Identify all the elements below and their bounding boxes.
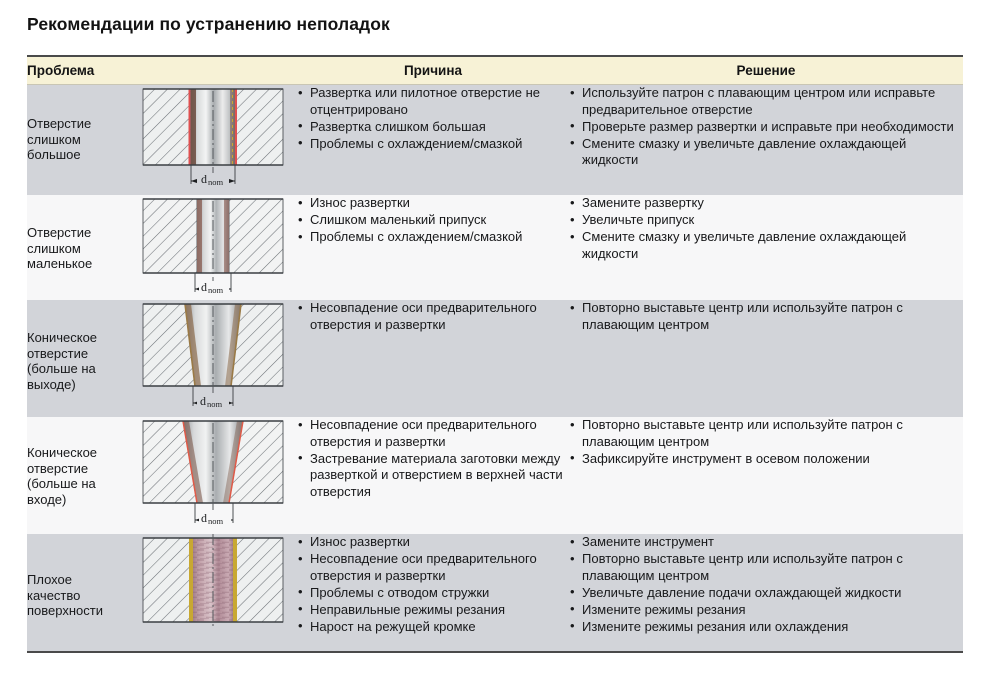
dimension-subscript: nom bbox=[207, 399, 223, 409]
table-row: Коническое отверстие (больше на входе) bbox=[27, 417, 963, 534]
hole-diagram-svg bbox=[133, 534, 293, 646]
problem-line: слишком bbox=[27, 241, 129, 257]
list-item: Проблемы с охлаждением/смазкой bbox=[297, 229, 569, 246]
list-item: Износ развертки bbox=[297, 534, 569, 551]
problem-line: поверхности bbox=[27, 603, 129, 619]
solution-cell: Повторно выставьте центр или используйте… bbox=[569, 300, 963, 417]
cause-cell: Износ развертки Несовпадение оси предвар… bbox=[297, 534, 569, 651]
table-row: Коническое отверстие (больше на выходе) bbox=[27, 300, 963, 417]
problem-line: (больше на bbox=[27, 361, 129, 377]
problem-line: слишком bbox=[27, 132, 129, 148]
cause-cell: Износ развертки Слишком маленький припус… bbox=[297, 195, 569, 300]
list-item: Повторно выставьте центр или используйте… bbox=[569, 300, 963, 333]
cause-list: Развертка или пилотное отверстие не отце… bbox=[297, 85, 569, 152]
solution-cell: Повторно выставьте центр или используйте… bbox=[569, 417, 963, 534]
dimension-label: d bbox=[200, 394, 206, 408]
list-item: Развертка или пилотное отверстие не отце… bbox=[297, 85, 569, 118]
list-item: Застревание материала заготовки между ра… bbox=[297, 451, 569, 501]
solution-list: Используйте патрон с плавающим центром и… bbox=[569, 85, 963, 169]
problem-line: Отверстие bbox=[27, 225, 129, 241]
column-header-solution: Решение bbox=[569, 57, 963, 85]
solution-list: Замените развертку Увеличьте припуск Сме… bbox=[569, 195, 963, 262]
cause-cell: Несовпадение оси предварительного отверс… bbox=[297, 417, 569, 534]
solution-cell: Замените развертку Увеличьте припуск Сме… bbox=[569, 195, 963, 300]
table-row: Плохое качество поверхности bbox=[27, 534, 963, 651]
list-item: Повторно выставьте центр или используйте… bbox=[569, 551, 963, 584]
list-item: Износ развертки bbox=[297, 195, 569, 212]
list-item: Замените инструмент bbox=[569, 534, 963, 551]
problem-line: Коническое bbox=[27, 330, 129, 346]
list-item: Развертка слишком большая bbox=[297, 119, 569, 136]
list-item: Измените режимы резания bbox=[569, 602, 963, 619]
figure-hole-too-small: d nom bbox=[133, 195, 293, 295]
problem-line: маленькое bbox=[27, 256, 129, 272]
figure-poor-surface-finish bbox=[133, 534, 293, 646]
figure-cell: d nom bbox=[129, 195, 297, 300]
dimension-subscript: nom bbox=[208, 285, 224, 295]
problem-line: Отверстие bbox=[27, 116, 129, 132]
page-title: Рекомендации по устранению неполадок bbox=[27, 14, 390, 35]
cause-list: Несовпадение оси предварительного отверс… bbox=[297, 300, 569, 333]
dimension-label: d bbox=[201, 172, 207, 186]
problem-line: (больше на bbox=[27, 476, 129, 492]
problem-line: Плохое bbox=[27, 572, 129, 588]
hole-diagram-svg: d nom bbox=[133, 85, 293, 190]
solution-list: Замените инструмент Повторно выставьте ц… bbox=[569, 534, 963, 635]
troubleshooting-table-wrapper: Проблема Причина Решение Отверстие слишк… bbox=[27, 55, 963, 653]
solution-list: Повторно выставьте центр или используйте… bbox=[569, 300, 963, 333]
troubleshooting-table: Проблема Причина Решение Отверстие слишк… bbox=[27, 57, 963, 651]
list-item: Несовпадение оси предварительного отверс… bbox=[297, 551, 569, 584]
figure-cell bbox=[129, 534, 297, 651]
figure-cell: d nom bbox=[129, 300, 297, 417]
dimension-label: d bbox=[201, 511, 207, 525]
problem-cell: Плохое качество поверхности bbox=[27, 534, 129, 651]
column-header-problem: Проблема bbox=[27, 57, 297, 85]
list-item: Слишком маленький припуск bbox=[297, 212, 569, 229]
problem-cell: Отверстие слишком большое bbox=[27, 85, 129, 196]
solution-cell: Замените инструмент Повторно выставьте ц… bbox=[569, 534, 963, 651]
list-item: Несовпадение оси предварительного отверс… bbox=[297, 300, 569, 333]
list-item: Нарост на режущей кромке bbox=[297, 619, 569, 636]
problem-line: отверстие bbox=[27, 346, 129, 362]
list-item: Используйте патрон с плавающим центром и… bbox=[569, 85, 963, 118]
cause-list: Несовпадение оси предварительного отверс… bbox=[297, 417, 569, 500]
problem-line: отверстие bbox=[27, 461, 129, 477]
list-item: Измените режимы резания или охлаждения bbox=[569, 619, 963, 636]
problem-line: выходе) bbox=[27, 377, 129, 393]
table-row: Отверстие слишком большое bbox=[27, 85, 963, 196]
table-row: Отверстие слишком маленькое bbox=[27, 195, 963, 300]
list-item: Проблемы с охлаждением/смазкой bbox=[297, 136, 569, 153]
solution-list: Повторно выставьте центр или используйте… bbox=[569, 417, 963, 467]
problem-cell: Коническое отверстие (больше на выходе) bbox=[27, 300, 129, 417]
cause-list: Износ развертки Несовпадение оси предвар… bbox=[297, 534, 569, 635]
cause-cell: Развертка или пилотное отверстие не отце… bbox=[297, 85, 569, 196]
problem-line: Коническое bbox=[27, 445, 129, 461]
cause-cell: Несовпадение оси предварительного отверс… bbox=[297, 300, 569, 417]
list-item: Увеличьте давление подачи охлаждающей жи… bbox=[569, 585, 963, 602]
problem-cell: Отверстие слишком маленькое bbox=[27, 195, 129, 300]
figure-cell: d nom bbox=[129, 85, 297, 196]
dimension-subscript: nom bbox=[208, 516, 224, 526]
table-header: Проблема Причина Решение bbox=[27, 57, 963, 85]
list-item: Зафиксируйте инструмент в осевом положен… bbox=[569, 451, 963, 468]
dimension-label: d bbox=[201, 280, 207, 294]
dimension-subscript: nom bbox=[208, 177, 224, 187]
list-item: Несовпадение оси предварительного отверс… bbox=[297, 417, 569, 450]
list-item: Проблемы с отводом стружки bbox=[297, 585, 569, 602]
hole-diagram-svg: d nom bbox=[133, 195, 293, 295]
list-item: Замените развертку bbox=[569, 195, 963, 212]
solution-cell: Используйте патрон с плавающим центром и… bbox=[569, 85, 963, 196]
column-header-cause: Причина bbox=[297, 57, 569, 85]
list-item: Проверьте размер развертки и исправьте п… bbox=[569, 119, 963, 136]
list-item: Смените смазку и увеличьте давление охла… bbox=[569, 136, 963, 169]
cause-list: Износ развертки Слишком маленький припус… bbox=[297, 195, 569, 246]
problem-line: входе) bbox=[27, 492, 129, 508]
header-row: Проблема Причина Решение bbox=[27, 57, 963, 85]
figure-taper-wide-at-entry: d nom bbox=[133, 417, 293, 529]
list-item: Повторно выставьте центр или используйте… bbox=[569, 417, 963, 450]
list-item: Увеличьте припуск bbox=[569, 212, 963, 229]
figure-cell: d nom bbox=[129, 417, 297, 534]
problem-cell: Коническое отверстие (больше на входе) bbox=[27, 417, 129, 534]
problem-line: большое bbox=[27, 147, 129, 163]
figure-taper-wide-at-exit: d nom bbox=[133, 300, 293, 412]
problem-line: качество bbox=[27, 588, 129, 604]
table-body: Отверстие слишком большое bbox=[27, 85, 963, 652]
hole-diagram-svg: d nom bbox=[133, 300, 293, 412]
list-item: Смените смазку и увеличьте давление охла… bbox=[569, 229, 963, 262]
hole-diagram-svg: d nom bbox=[133, 417, 293, 529]
list-item: Неправильные режимы резания bbox=[297, 602, 569, 619]
figure-hole-too-large: d nom bbox=[133, 85, 293, 190]
